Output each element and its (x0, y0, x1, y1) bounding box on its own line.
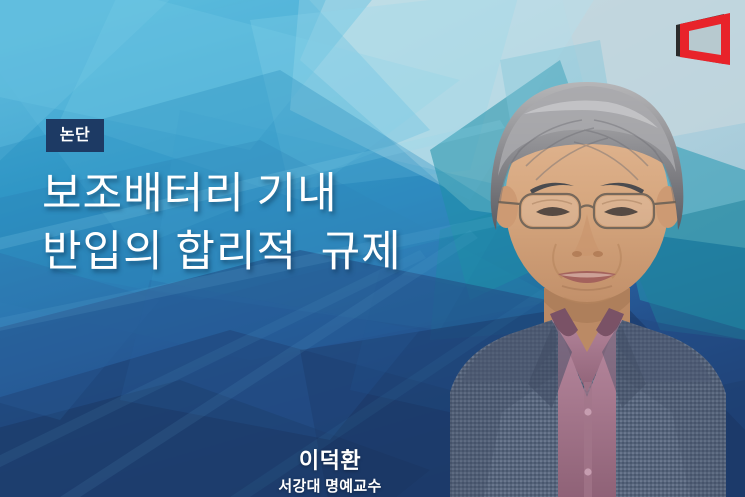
opinion-article-card: 논단 보조배터리 기내 반입의 합리적 규제 이덕환 서강대 명예교수 (0, 0, 745, 497)
author-name: 이덕환 (170, 448, 490, 474)
red-square-bracket-logo[interactable] (672, 12, 734, 66)
author-portrait (432, 52, 742, 497)
page-title: 보조배터리 기내 반입의 합리적 규제 (42, 166, 472, 282)
headline-line-2: 반입의 합리적 규제 (42, 224, 472, 282)
category-badge[interactable]: 논단 (46, 119, 104, 152)
headline-line-1: 보조배터리 기내 (42, 166, 472, 224)
author-affiliation: 서강대 명예교수 (170, 478, 490, 496)
category-badge-label: 논단 (60, 128, 90, 144)
byline: 이덕환 서강대 명예교수 (170, 448, 490, 496)
